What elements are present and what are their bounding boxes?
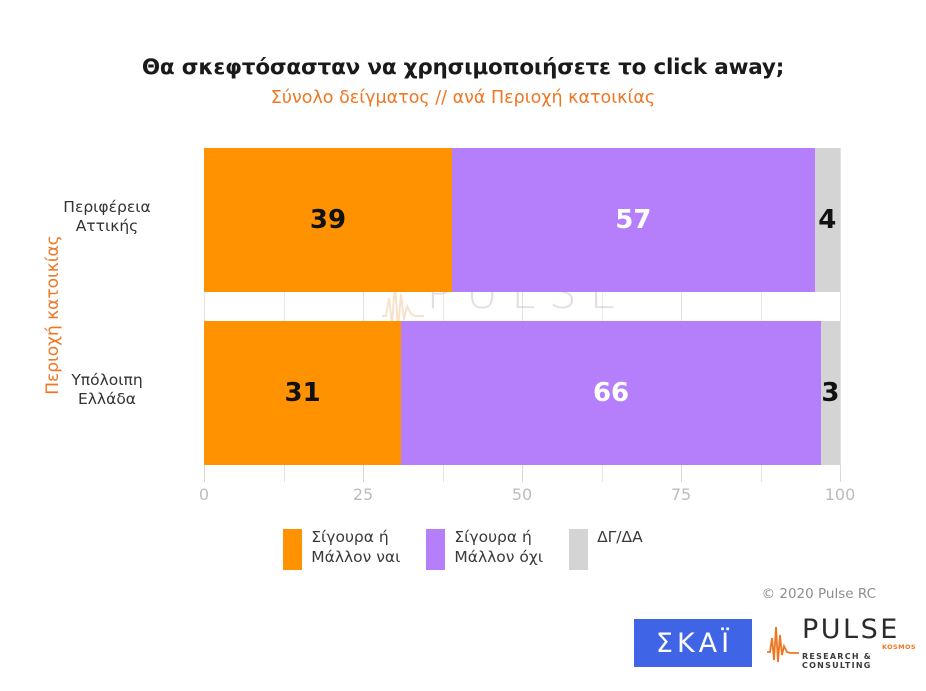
x-tick-mark [840,465,841,482]
bar-segment: 66 [401,321,821,465]
legend-no[interactable]: Σίγουρα ή Μάλλον όχι [426,528,543,570]
skai-logo-text: ΣΚΑΪ [653,630,733,657]
x-tick-label: 25 [353,485,373,504]
bar-segment: 57 [452,148,815,292]
footer-logos: ΣΚΑΪ PULSE KOSMOS RESEARCH & CONSULTING [634,618,918,668]
chart-title: Θα σκεφτόσασταν να χρησιμοποιήσετε το cl… [0,56,926,81]
x-tick-label: 100 [825,485,856,504]
plot-area: PULSE RESEARCH & CONSULTING 3957431663 [204,148,840,465]
x-tick-label: 75 [671,485,691,504]
title-block: Θα σκεφτόσασταν να χρησιμοποιήσετε το cl… [0,56,926,108]
x-minor-tick-mark [443,465,444,482]
skai-logo: ΣΚΑΪ [634,619,752,667]
bar-value-label: 39 [310,207,346,233]
x-tick-mark [363,465,364,482]
x-tick-label: 0 [199,485,209,504]
pulse-waveform-icon [766,622,800,666]
bar-segment: 39 [204,148,452,292]
bars-layer: 3957431663 [204,148,840,465]
x-tick-mark [522,465,523,482]
legend-dk[interactable]: ΔΓ/ΔΑ [569,528,643,570]
x-tick-mark [681,465,682,482]
bar-value-label: 66 [593,380,629,406]
pulse-logo-kosmos: KOSMOS [882,643,916,651]
chart-subtitle: Σύνολο δείγματος // ανά Περιοχή κατοικία… [0,88,926,108]
legend-label: Σίγουρα ή Μάλλον ναι [311,528,400,568]
bar-row: 39574 [204,148,840,292]
x-tick-mark [204,465,205,482]
copyright-text: © 2020 Pulse RC [762,586,876,602]
chart-canvas: Θα σκεφτόσασταν να χρησιμοποιήσετε το cl… [0,0,926,691]
gridline [840,148,841,465]
legend: Σίγουρα ή Μάλλον ναιΣίγουρα ή Μάλλον όχι… [0,528,926,570]
bar-row: 31663 [204,321,840,465]
pulse-logo: PULSE KOSMOS RESEARCH & CONSULTING [766,618,918,668]
x-tick-label: 50 [512,485,532,504]
x-axis: 0255075100 [204,465,840,511]
legend-yes[interactable]: Σίγουρα ή Μάλλον ναι [283,528,400,570]
bar-value-label: 57 [615,207,651,233]
category-labels: ΠεριφέρειαΑττικήςΥπόλοιπηΕλλάδα [12,148,192,465]
pulse-logo-text: PULSE [802,616,918,643]
bar-value-label: 31 [284,380,320,406]
category-label: ΥπόλοιπηΕλλάδα [22,371,192,410]
x-minor-tick-mark [602,465,603,482]
bar-value-label: 3 [821,380,839,406]
legend-swatch [569,529,588,570]
bar-segment: 31 [204,321,401,465]
pulse-logo-subtitle: RESEARCH & CONSULTING [802,652,918,670]
x-minor-tick-mark [761,465,762,482]
bar-segment: 4 [815,148,840,292]
bar-segment: 3 [821,321,840,465]
legend-swatch [283,529,302,570]
legend-swatch [426,529,445,570]
legend-label: Σίγουρα ή Μάλλον όχι [454,528,543,568]
bar-value-label: 4 [818,207,836,233]
legend-label: ΔΓ/ΔΑ [597,528,643,548]
x-minor-tick-mark [284,465,285,482]
category-label: ΠεριφέρειαΑττικής [22,198,192,237]
